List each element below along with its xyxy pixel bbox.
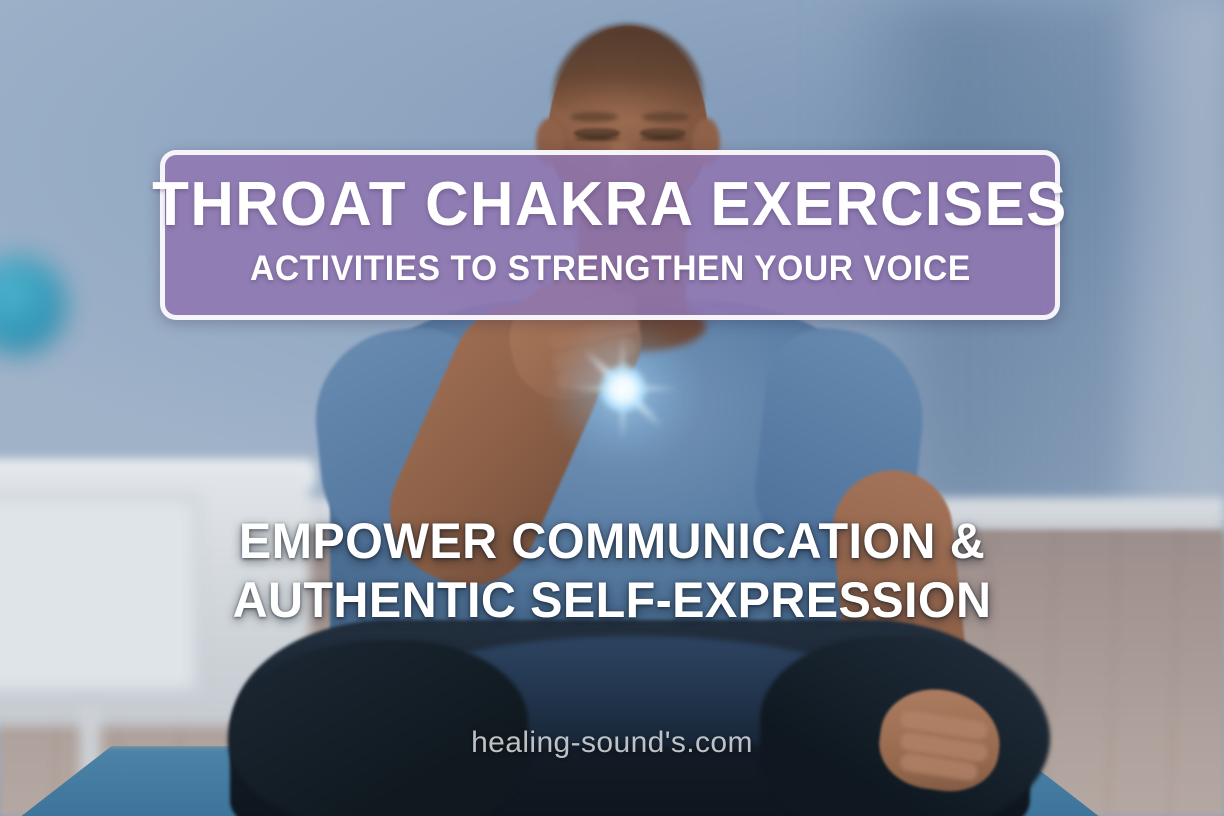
- tagline-line-1: EMPOWER COMMUNICATION &: [18, 512, 1205, 571]
- tagline-line-2: AUTHENTIC SELF-EXPRESSION: [18, 571, 1205, 630]
- left-eyelash: [574, 137, 620, 141]
- site-watermark: healing-sound's.com: [0, 726, 1224, 760]
- left-eyebrow: [570, 112, 618, 122]
- chakra-glow-core: [600, 366, 646, 412]
- right-eyelash: [640, 137, 686, 141]
- background-photo: [0, 0, 1224, 816]
- poster-canvas: THROAT CHAKRA EXERCISES ACTIVITIES TO ST…: [0, 0, 1224, 816]
- meditating-person: [0, 0, 1224, 816]
- title-banner: THROAT CHAKRA EXERCISES ACTIVITIES TO ST…: [160, 150, 1060, 320]
- tagline-block: EMPOWER COMMUNICATION & AUTHENTIC SELF-E…: [18, 512, 1205, 630]
- banner-subtitle: ACTIVITIES TO STRENGTHEN YOUR VOICE: [250, 250, 971, 289]
- banner-title: THROAT CHAKRA EXERCISES: [152, 173, 1068, 236]
- shaved-scalp: [552, 24, 704, 120]
- right-eyebrow: [642, 112, 690, 122]
